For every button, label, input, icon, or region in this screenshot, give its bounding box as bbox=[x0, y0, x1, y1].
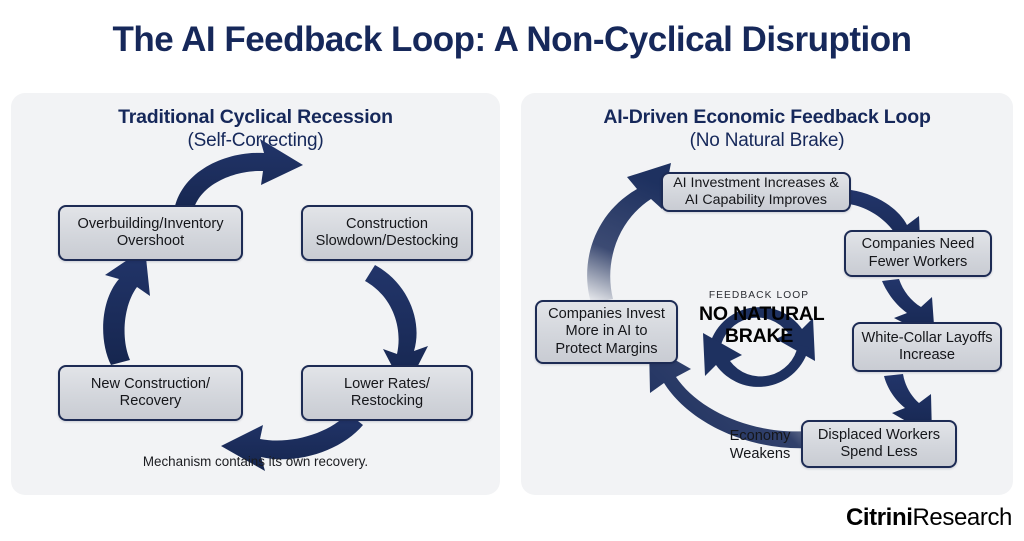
node-new-construction-label: New Construction/ Recovery bbox=[60, 376, 241, 410]
node-white-collar-layoffs-label: White-Collar Layoffs Increase bbox=[854, 330, 1000, 364]
node-construction-slowdown[interactable]: Construction Slowdown/Destocking bbox=[301, 205, 473, 261]
node-fewer-workers[interactable]: Companies Need Fewer Workers bbox=[844, 230, 992, 277]
node-construction-slowdown-label: Construction Slowdown/Destocking bbox=[303, 216, 471, 250]
citrini-research-logo: CitriniResearch bbox=[846, 504, 1012, 532]
node-overbuilding[interactable]: Overbuilding/Inventory Overshoot bbox=[58, 205, 243, 261]
logo-bold-text: Citrini bbox=[846, 504, 913, 531]
page-title: The AI Feedback Loop: A Non-Cyclical Dis… bbox=[0, 20, 1024, 60]
node-lower-rates-label: Lower Rates/ Restocking bbox=[303, 376, 471, 410]
node-new-construction[interactable]: New Construction/ Recovery bbox=[58, 365, 243, 421]
node-overbuilding-label: Overbuilding/Inventory Overshoot bbox=[60, 216, 241, 250]
feedback-loop-center-annotation: FEEDBACK LOOP NO NATURAL BRAKE bbox=[699, 289, 819, 347]
node-companies-invest-label: Companies Invest More in AI to Protect M… bbox=[537, 306, 676, 358]
logo-regular-text: Research bbox=[912, 504, 1012, 531]
left-cycle-arrows bbox=[11, 93, 500, 495]
node-companies-invest[interactable]: Companies Invest More in AI to Protect M… bbox=[535, 300, 678, 364]
arrow-invest-to-aiinvest bbox=[587, 163, 671, 303]
center-eyebrow: FEEDBACK LOOP bbox=[699, 289, 819, 303]
node-ai-investment-label: AI Investment Increases & AI Capability … bbox=[663, 175, 849, 209]
center-headline-line2: BRAKE bbox=[699, 325, 819, 347]
center-headline-line1: NO NATURAL bbox=[699, 303, 819, 325]
node-fewer-workers-label: Companies Need Fewer Workers bbox=[846, 236, 990, 270]
node-ai-investment[interactable]: AI Investment Increases & AI Capability … bbox=[661, 172, 851, 212]
node-displaced-workers-label: Displaced Workers Spend Less bbox=[803, 427, 955, 461]
infographic-root: The AI Feedback Loop: A Non-Cyclical Dis… bbox=[0, 0, 1024, 541]
edge-label-economy-weakens: Economy Weakens bbox=[714, 428, 806, 463]
panel-traditional-cycle: Traditional Cyclical Recession (Self-Cor… bbox=[11, 93, 500, 495]
arrow-overbuilding-to-slowdown bbox=[174, 139, 303, 213]
node-white-collar-layoffs[interactable]: White-Collar Layoffs Increase bbox=[852, 322, 1002, 372]
arrow-newconstruction-to-overbuilding bbox=[103, 248, 150, 365]
panel-ai-feedback-loop: AI-Driven Economic Feedback Loop (No Nat… bbox=[521, 93, 1013, 495]
left-panel-caption: Mechanism contains its own recovery. bbox=[11, 454, 500, 469]
node-lower-rates[interactable]: Lower Rates/ Restocking bbox=[301, 365, 473, 421]
node-displaced-workers[interactable]: Displaced Workers Spend Less bbox=[801, 420, 957, 468]
